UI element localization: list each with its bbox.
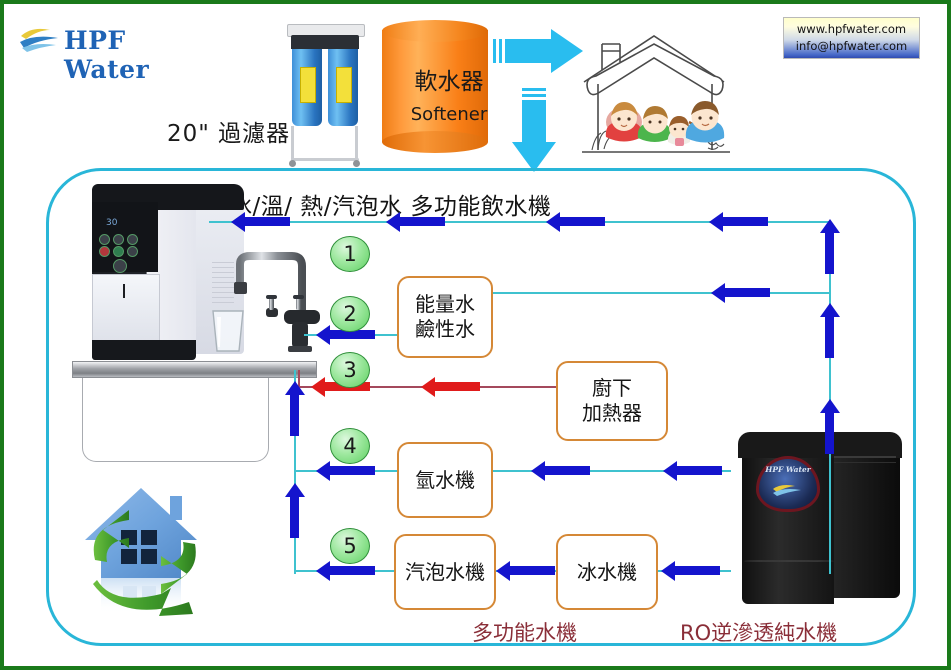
pipe-right-vertical-lower	[829, 454, 831, 574]
email-text: info@hpfwater.com	[796, 38, 907, 55]
brand-logo: HPF Water	[18, 24, 218, 62]
filter-label: 20" 過濾器	[167, 114, 290, 148]
flow-arrow-row5-a	[329, 566, 375, 575]
brand-name: HPF Water	[64, 26, 218, 84]
flow-arrow-row5-b	[509, 566, 555, 575]
flow-arrow-row5-c	[674, 566, 720, 575]
box-ice-water: 冰水機	[556, 534, 658, 610]
diagram-canvas: HPF Water www.hpfwater.com info@hpfwater…	[0, 0, 951, 670]
house-family-icon	[562, 18, 747, 168]
step-number-3: 3	[343, 358, 356, 382]
box-energy-line1: 能量水	[415, 292, 475, 317]
flow-arrow-row1-d	[722, 217, 768, 226]
step-circle-4: 4	[330, 428, 370, 464]
cyan-arrow-down-icon	[512, 88, 556, 172]
riser-arrow-left-low	[290, 496, 299, 538]
box-heater-line1: 廚下	[592, 376, 632, 401]
flow-arrow-row2	[724, 288, 770, 297]
box-soda-label: 汽泡水機	[405, 560, 485, 585]
step-circle-3: 3	[330, 352, 370, 388]
box-hydrogen-water: 氫水機	[397, 442, 493, 518]
drinking-glass-icon	[209, 309, 247, 353]
countertop-icon	[72, 361, 317, 378]
sink-basin-icon	[82, 378, 269, 462]
step-circle-2: 2	[330, 296, 370, 332]
box-energy-water: 能量水 鹼性水	[397, 276, 493, 358]
riser-arrow-right-top	[825, 232, 834, 274]
step-number-2: 2	[343, 302, 356, 326]
softener-label-cn: 軟水器	[389, 62, 509, 96]
hot-flow-arrow-b	[434, 382, 480, 391]
step-number-4: 4	[343, 434, 356, 458]
box-under-sink-heater: 廚下 加熱器	[556, 361, 668, 441]
contact-box: www.hpfwater.com info@hpfwater.com	[783, 17, 920, 59]
flow-arrow-row4-a	[329, 466, 375, 475]
ro-badge-text: HPF Water	[759, 465, 817, 474]
ro-purifier-icon: HPF Water	[730, 432, 910, 604]
twin-filter-housing-icon	[285, 16, 365, 164]
wave-logo-icon	[18, 24, 62, 54]
eco-house-recycle-icon	[49, 474, 224, 634]
riser-arrow-right-low	[825, 412, 834, 454]
flow-arrow-row1-a	[244, 217, 290, 226]
riser-arrow-right-mid	[825, 316, 834, 358]
footer-label-ro: RO逆滲透純水機	[680, 617, 837, 647]
flow-arrow-row1-b	[399, 217, 445, 226]
step-number-1: 1	[343, 242, 356, 266]
riser-arrow-left-top	[290, 394, 299, 436]
step-circle-1: 1	[330, 236, 370, 272]
box-sparkling-water: 汽泡水機	[394, 534, 496, 610]
box-heater-line2: 加熱器	[582, 401, 642, 426]
step-number-5: 5	[343, 534, 356, 558]
website-text: www.hpfwater.com	[797, 21, 906, 38]
box-ice-label: 冰水機	[577, 560, 637, 585]
footer-label-multifunction: 多功能水機	[472, 617, 577, 647]
box-hydrogen-label: 氫水機	[415, 468, 475, 493]
flow-arrow-row4-b	[544, 466, 590, 475]
step-circle-5: 5	[330, 528, 370, 564]
flow-arrow-row1-c	[559, 217, 605, 226]
flow-arrow-row4-c	[676, 466, 722, 475]
box-energy-line2: 鹼性水	[415, 317, 475, 342]
pipe-row-2	[489, 292, 830, 294]
softener-label-en: Softener	[389, 104, 509, 125]
